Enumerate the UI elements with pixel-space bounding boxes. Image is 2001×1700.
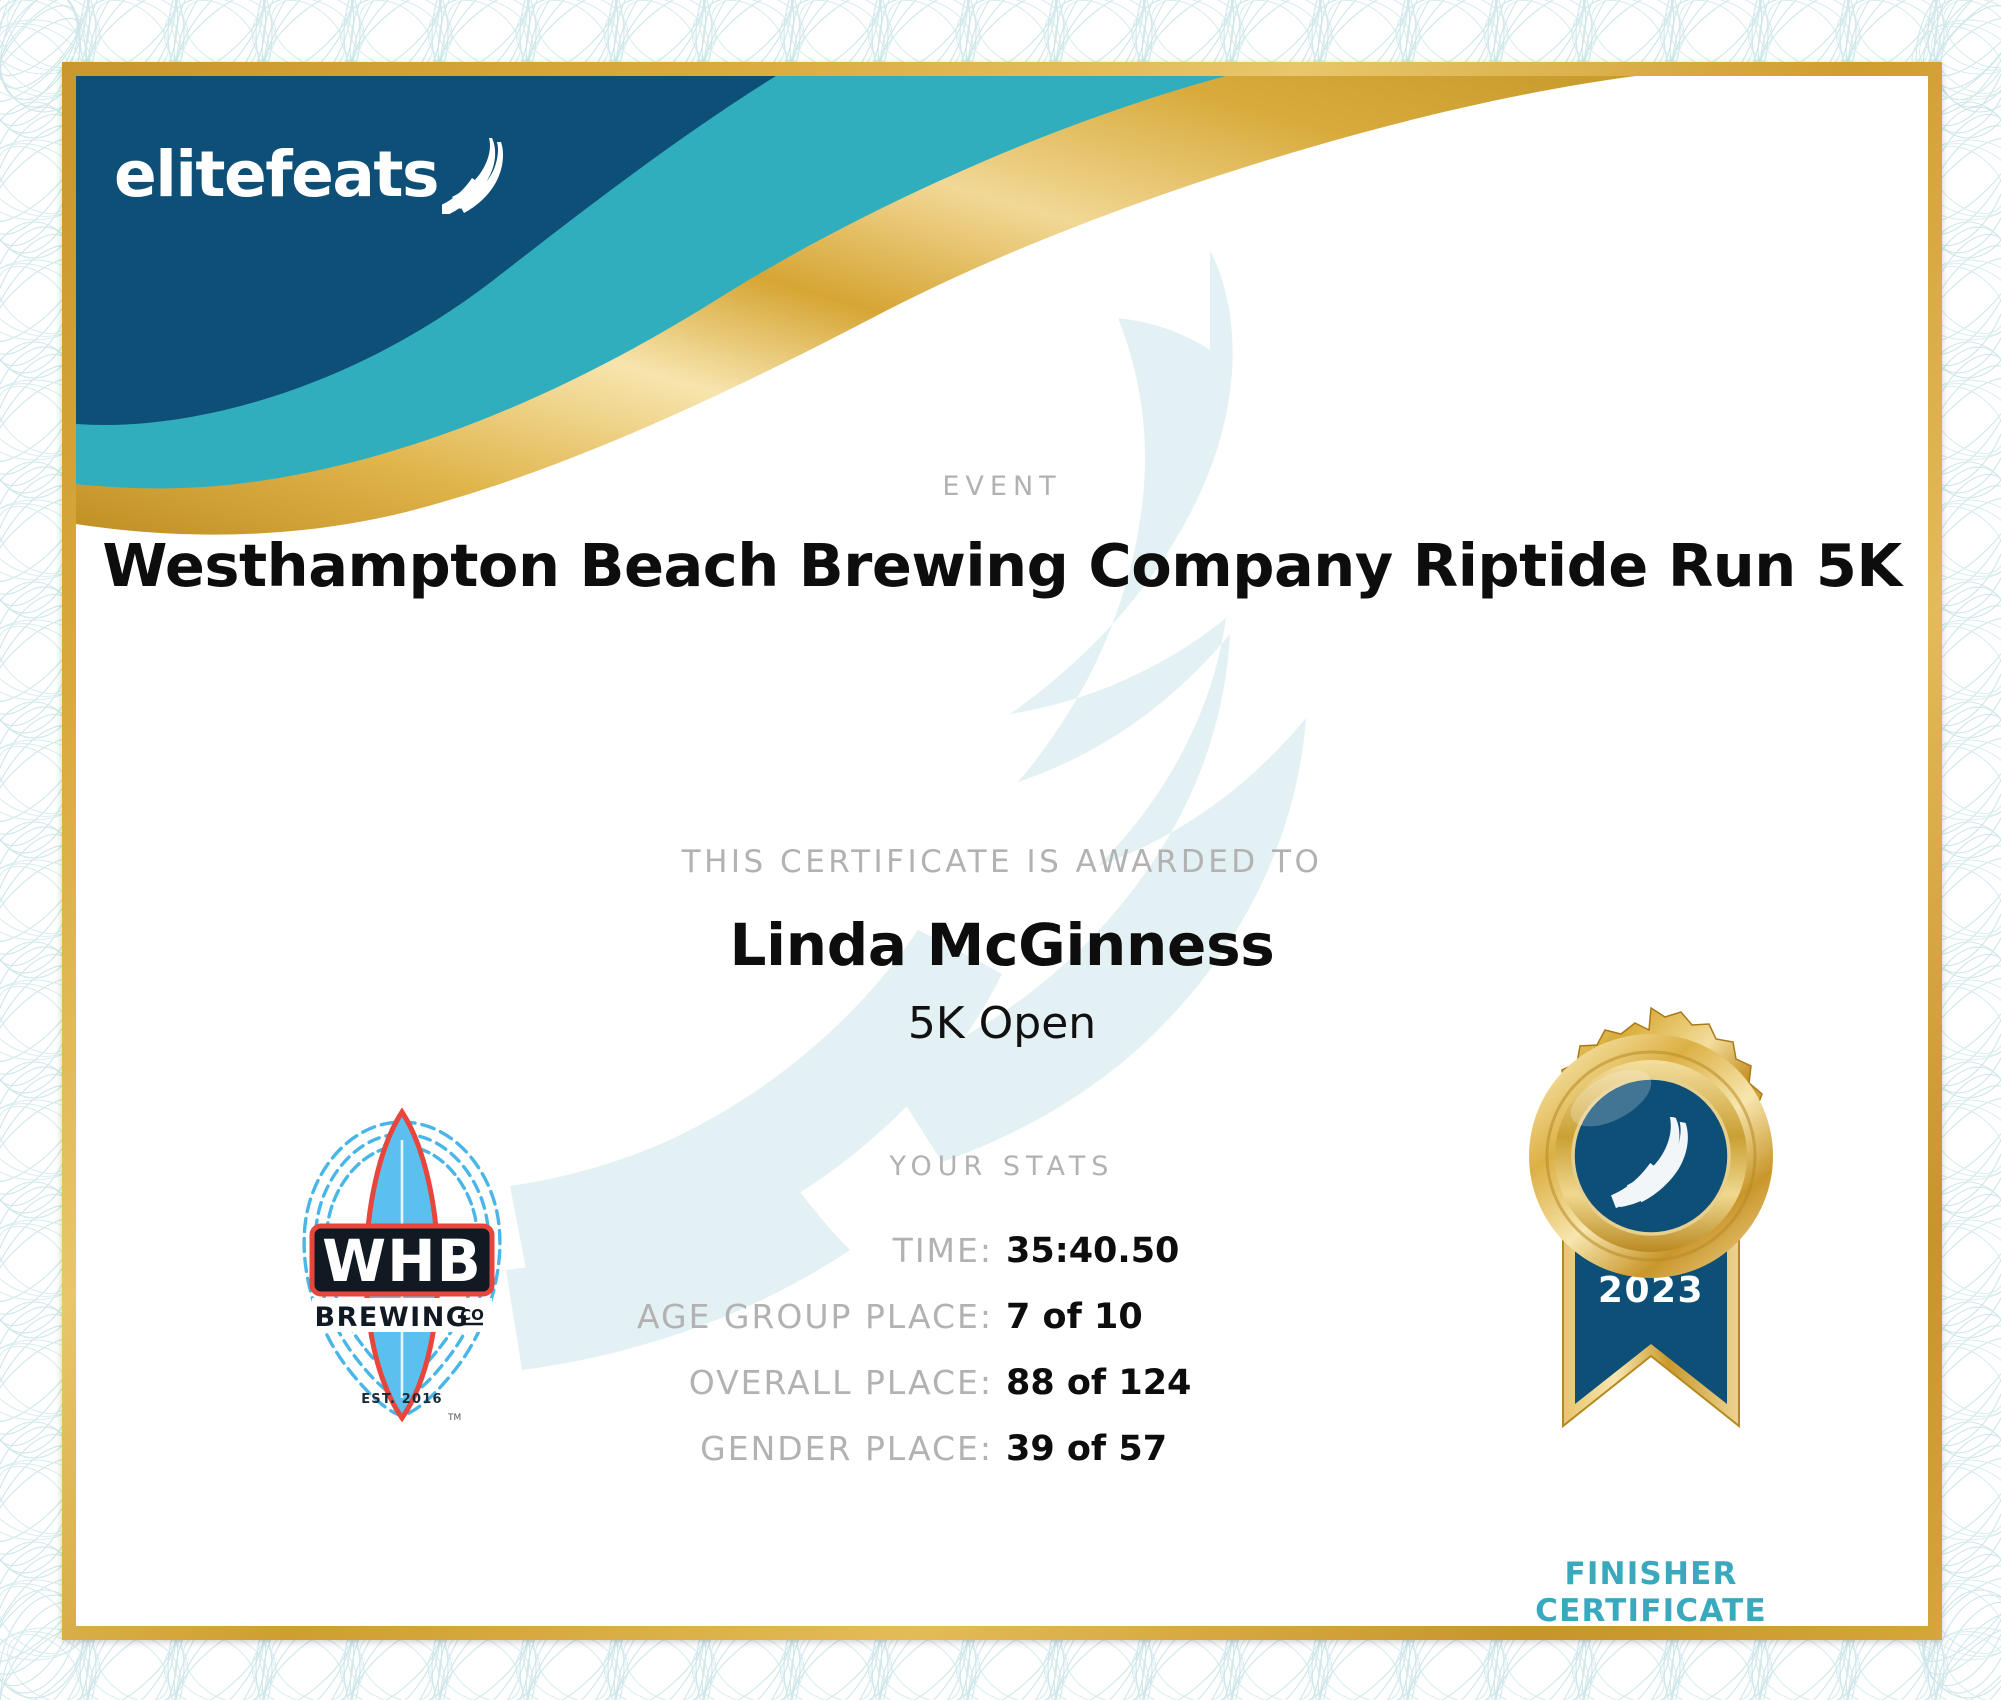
finisher-medal-badge: 2023 [1501,1006,1801,1476]
event-title: Westhampton Beach Brewing Company Riptid… [76,531,1928,600]
winged-foot-icon [442,136,514,214]
sponsor-co-text: CO [460,1306,484,1324]
finisher-certificate-caption: FINISHER CERTIFICATE [1476,1556,1826,1626]
stat-label-time: TIME: [893,1231,993,1270]
sponsor-trademark-text: TM [447,1413,461,1423]
event-label: EVENT [76,471,1928,502]
stat-label-overall-place: OVERALL PLACE: [689,1363,993,1402]
stats-table: TIME: 35:40.50 AGE GROUP PLACE: 7 of 10 … [76,1231,1336,1495]
gold-frame-border: elitefeats EVENT Westhampton Beach Brewi… [62,62,1942,1640]
brand-logo-text: elitefeats [114,143,438,206]
stat-row: GENDER PLACE: 39 of 57 [76,1429,1336,1477]
stat-value-overall-place: 88 of 124 [1006,1363,1336,1403]
finisher-caption-line2: CERTIFICATE [1476,1593,1826,1626]
stat-value-time: 35:40.50 [1006,1231,1336,1271]
sponsor-brewing-text: BREWING [315,1302,470,1333]
stat-row: TIME: 35:40.50 [76,1231,1336,1279]
sponsor-whb-text: WHB [322,1227,482,1295]
stat-row: OVERALL PLACE: 88 of 124 [76,1363,1336,1411]
sponsor-logo-whb-brewing: WHB BREWING CO EST. 2016 TM [272,1098,532,1428]
certificate-page: elitefeats EVENT Westhampton Beach Brewi… [0,0,2001,1700]
stat-label-age-group-place: AGE GROUP PLACE: [637,1297,993,1336]
certificate-card: elitefeats EVENT Westhampton Beach Brewi… [76,76,1928,1626]
sponsor-established-text: EST. 2016 [361,1392,443,1407]
stat-row: AGE GROUP PLACE: 7 of 10 [76,1297,1336,1345]
stat-label-gender-place: GENDER PLACE: [700,1429,993,1468]
awarded-to-label: THIS CERTIFICATE IS AWARDED TO [76,844,1928,880]
brand-logo: elitefeats [114,136,514,206]
recipient-name: Linda McGinness [76,911,1928,979]
stat-value-gender-place: 39 of 57 [1006,1429,1336,1469]
finisher-caption-line1: FINISHER [1476,1556,1826,1593]
stat-value-age-group-place: 7 of 10 [1006,1297,1336,1337]
